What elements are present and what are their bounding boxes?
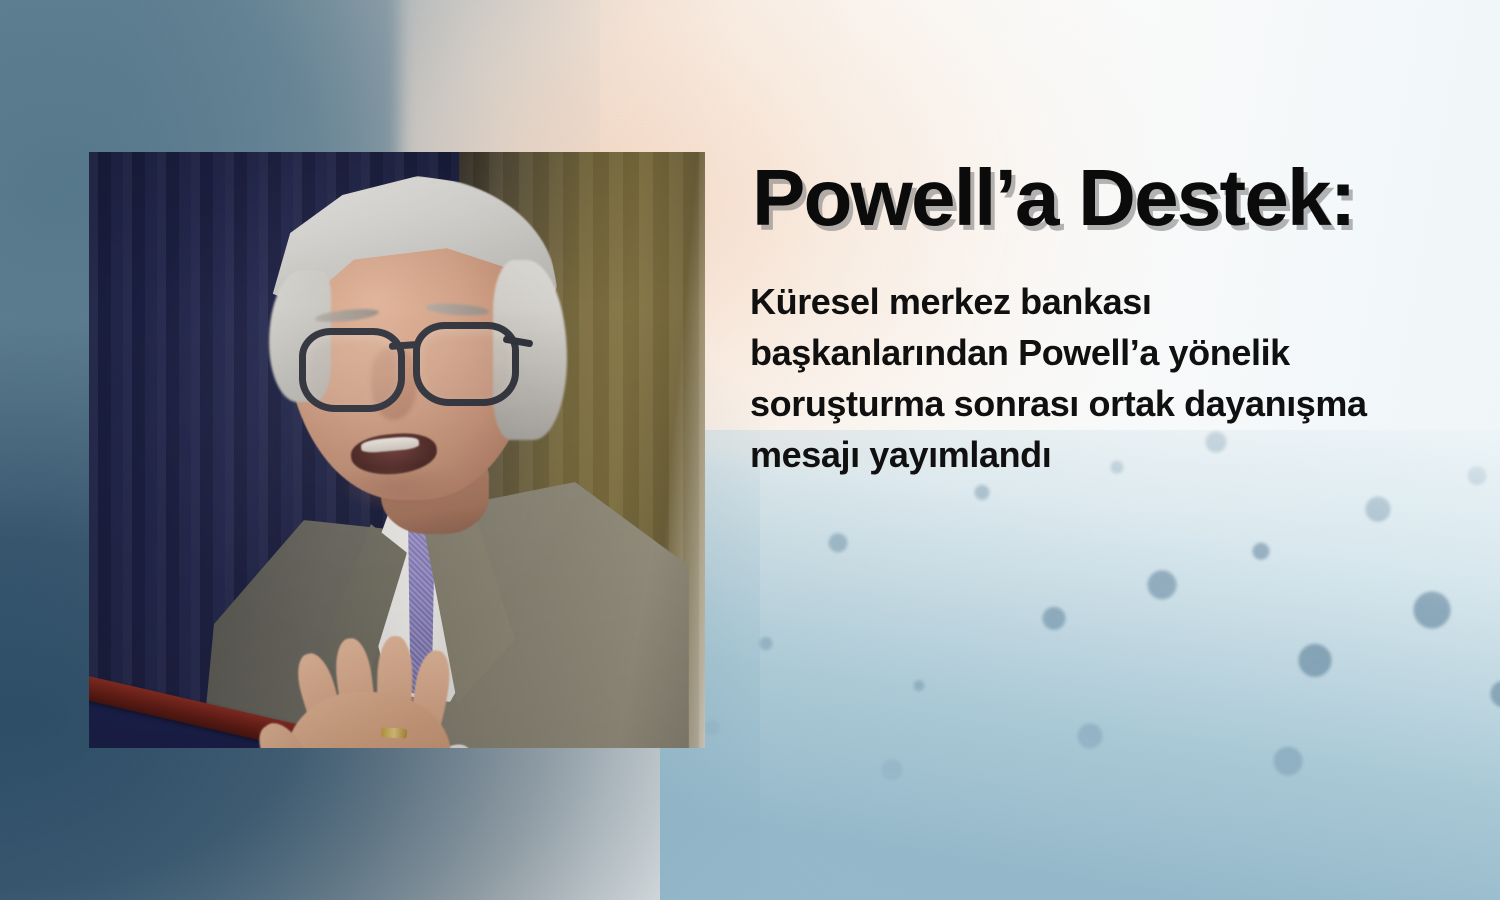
eyeglasses-lens-right — [413, 322, 519, 406]
chin-shadow — [339, 470, 459, 512]
page-subtitle: Küresel merkez bankası başkanlarından Po… — [750, 276, 1390, 480]
page-title: Powell’a Destek: — [752, 158, 1355, 238]
photo-content — [89, 152, 705, 748]
powell-photo — [89, 152, 705, 748]
eyeglasses-lens-left — [299, 328, 405, 412]
news-card: Powell’a Destek: Küresel merkez bankası … — [0, 0, 1500, 900]
wedding-ring — [381, 727, 408, 739]
